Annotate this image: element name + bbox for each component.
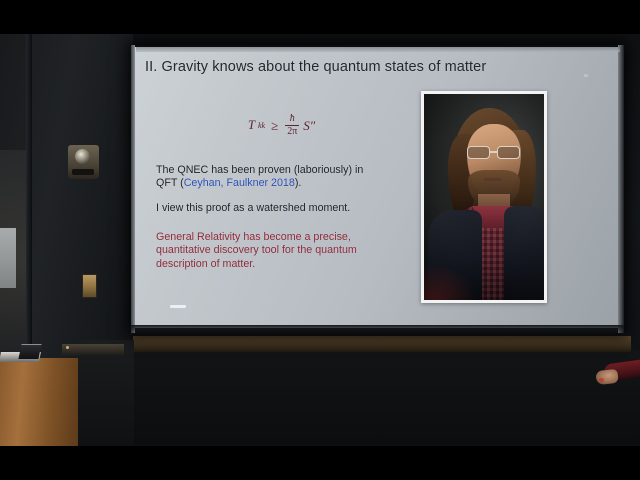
slide-title: II. Gravity knows about the quantum stat…	[145, 59, 486, 75]
emphasis-line-2: quantitative discovery tool for the quan…	[156, 244, 357, 256]
lower-wall	[120, 350, 640, 445]
wall-shelf	[62, 344, 124, 356]
camera-lens-icon	[75, 149, 90, 164]
presenter-hand-shape	[595, 369, 618, 385]
equation-denominator: 2π	[285, 127, 299, 137]
paragraph-qnec: The QNEC has been proven (laboriously) i…	[156, 164, 363, 191]
equation-numerator: ħ	[288, 114, 297, 124]
equation-lhs-subscript: kk	[258, 121, 265, 130]
light-switch-plate	[82, 274, 97, 298]
equation-rhs-symbol: S″	[303, 118, 315, 134]
slide-corner-mark	[584, 74, 588, 77]
emphasis-line-3: description of matter.	[156, 258, 255, 270]
letterbox-top	[0, 0, 640, 34]
equation-relation: ≥	[271, 118, 278, 134]
paragraph-watershed: I view this proof as a watershed moment.	[156, 202, 350, 215]
paragraph-qnec-line2: QFT (	[156, 177, 184, 189]
letterbox-bottom	[0, 446, 640, 480]
podium	[0, 358, 78, 458]
paragraph-qnec-line1: The QNEC has been proven (laboriously) i…	[156, 164, 363, 176]
camera-vent	[72, 169, 94, 175]
presenter-laptop	[18, 344, 41, 359]
laser-pointer-icon	[599, 378, 604, 382]
screenshot-stage: II. Gravity knows about the quantum stat…	[0, 0, 640, 480]
emphasis-line-1: General Relativity has become a precise,	[156, 231, 351, 243]
floor-trim-strip	[133, 336, 631, 352]
portrait-photo	[421, 91, 547, 303]
emphasis-paragraph: General Relativity has become a precise,…	[156, 231, 357, 271]
equation-lhs-symbol: T	[248, 118, 255, 133]
screen-left-edge	[131, 45, 135, 333]
qnec-equation: Tkk ≥ ħ 2π S″	[248, 114, 315, 137]
equation-fraction: ħ 2π	[285, 114, 299, 137]
ceiling-camera-icon	[68, 145, 99, 179]
podium-side-wall	[78, 340, 134, 460]
presenter-hand	[596, 360, 640, 400]
citation-link[interactable]: Ceyhan, Faulkner 2018	[184, 177, 295, 189]
screen-bottom-shadow	[131, 325, 624, 336]
presentation-slide: II. Gravity knows about the quantum stat…	[136, 50, 620, 326]
slide-footer-dash	[170, 305, 186, 308]
shelf-highlight	[66, 346, 69, 349]
portrait-photo-image	[424, 94, 544, 300]
paragraph-qnec-tail: ).	[295, 177, 302, 189]
side-whiteboard	[0, 228, 16, 288]
portrait-vignette	[424, 94, 544, 300]
